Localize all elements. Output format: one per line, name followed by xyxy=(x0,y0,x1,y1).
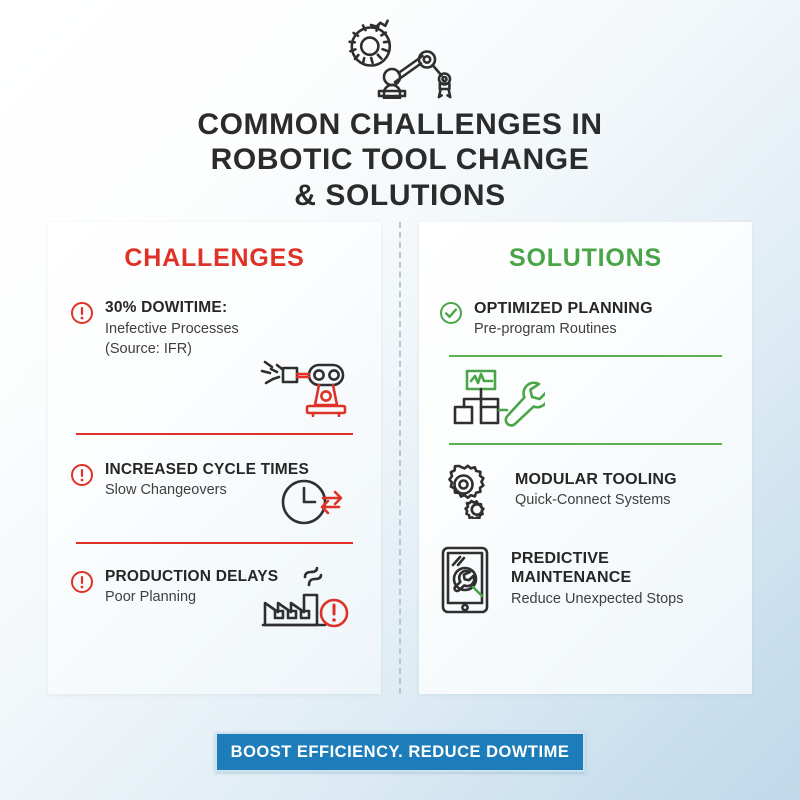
challenges-panel: CHALLENGES 30% DOWITIME: Inefective Proc… xyxy=(48,222,381,694)
challenge-item-2-text: INCREASED CYCLE TIMES Slow Changeovers xyxy=(105,461,359,500)
flowchart-wrench-icon xyxy=(439,367,732,429)
solution-item-1-text: OPTIMIZED PLANNING Pre-program Routines xyxy=(474,299,732,339)
solutions-separator-1 xyxy=(449,355,722,357)
solutions-heading: SOLUTIONS xyxy=(439,244,732,273)
alert-circle-icon xyxy=(70,463,94,487)
check-circle-icon xyxy=(439,301,463,325)
solutions-separator-2 xyxy=(449,443,722,445)
challenges-heading: CHALLENGES xyxy=(70,244,359,273)
page-title-line-2: ROBOTIC TOOL CHANGE xyxy=(0,142,800,177)
challenge-item-1-text: 30% DOWITIME: Inefective Processes (Sour… xyxy=(105,299,359,359)
header-icon-container xyxy=(0,18,800,100)
solution-item-1-sub-1: Pre-program Routines xyxy=(474,320,732,339)
footer-banner-text: BOOST EFFICIENCY. REDUCE DOWTIME xyxy=(231,743,570,762)
challenge-item-3-sub-1: Poor Planning xyxy=(105,588,359,607)
footer-banner: BOOST EFFICIENCY. REDUCE DOWTIME xyxy=(215,732,585,772)
solutions-panel: SOLUTIONS OPTIMIZED PLANNING Pre-program… xyxy=(419,222,752,694)
challenge-item-3-text: PRODUCTION DELAYS Poor Planning xyxy=(105,568,359,607)
page-title-line-3: & SOLUTIONS xyxy=(0,178,800,213)
solution-item-1-title: OPTIMIZED PLANNING xyxy=(474,299,732,318)
solution-item-2: MODULAR TOOLING Quick-Connect Systems xyxy=(439,461,732,519)
challenge-item-2-sub-1: Slow Changeovers xyxy=(105,481,359,500)
page-title: COMMON CHALLENGES IN ROBOTIC TOOL CHANGE… xyxy=(0,107,800,213)
challenge-item-3: PRODUCTION DELAYS Poor Planning xyxy=(70,568,359,607)
challenge-item-1-title: 30% DOWITIME: xyxy=(105,299,359,318)
robotic-arm-gear-icon xyxy=(325,19,475,99)
challenge-item-2-title: INCREASED CYCLE TIMES xyxy=(105,461,359,480)
challenge-item-3-title: PRODUCTION DELAYS xyxy=(105,568,359,587)
challenges-separator-1 xyxy=(76,433,353,435)
alert-circle-icon xyxy=(70,301,94,325)
solution-item-2-text: MODULAR TOOLING Quick-Connect Systems xyxy=(515,470,732,510)
challenges-separator-2 xyxy=(76,542,353,544)
solution-item-3-sub-1: Reduce Unexpected Stops xyxy=(511,590,732,609)
challenge-item-2: INCREASED CYCLE TIMES Slow Changeovers xyxy=(70,461,359,500)
page-title-line-1: COMMON CHALLENGES IN xyxy=(0,107,800,142)
solution-item-3-title: PREDICTIVE MAINTENANCE xyxy=(511,549,732,587)
solution-item-1: OPTIMIZED PLANNING Pre-program Routines xyxy=(439,299,732,339)
gears-icon xyxy=(439,463,501,519)
column-divider xyxy=(381,222,419,694)
alert-circle-icon xyxy=(70,570,94,594)
tablet-magnifier-wrench-icon xyxy=(439,545,497,615)
challenge-item-1-sub-2: (Source: IFR) xyxy=(105,340,359,359)
solution-item-3: PREDICTIVE MAINTENANCE Reduce Unexpected… xyxy=(439,543,732,615)
comparison-columns: CHALLENGES 30% DOWITIME: Inefective Proc… xyxy=(48,222,752,694)
infographic-canvas: COMMON CHALLENGES IN ROBOTIC TOOL CHANGE… xyxy=(0,0,800,800)
welding-robot-arm-icon xyxy=(70,355,359,417)
challenge-item-1-sub-1: Inefective Processes xyxy=(105,320,359,339)
solution-item-3-text: PREDICTIVE MAINTENANCE Reduce Unexpected… xyxy=(511,549,732,608)
solution-item-2-title: MODULAR TOOLING xyxy=(515,470,732,489)
challenge-item-1: 30% DOWITIME: Inefective Processes (Sour… xyxy=(70,299,359,359)
solution-item-2-sub-1: Quick-Connect Systems xyxy=(515,491,732,510)
